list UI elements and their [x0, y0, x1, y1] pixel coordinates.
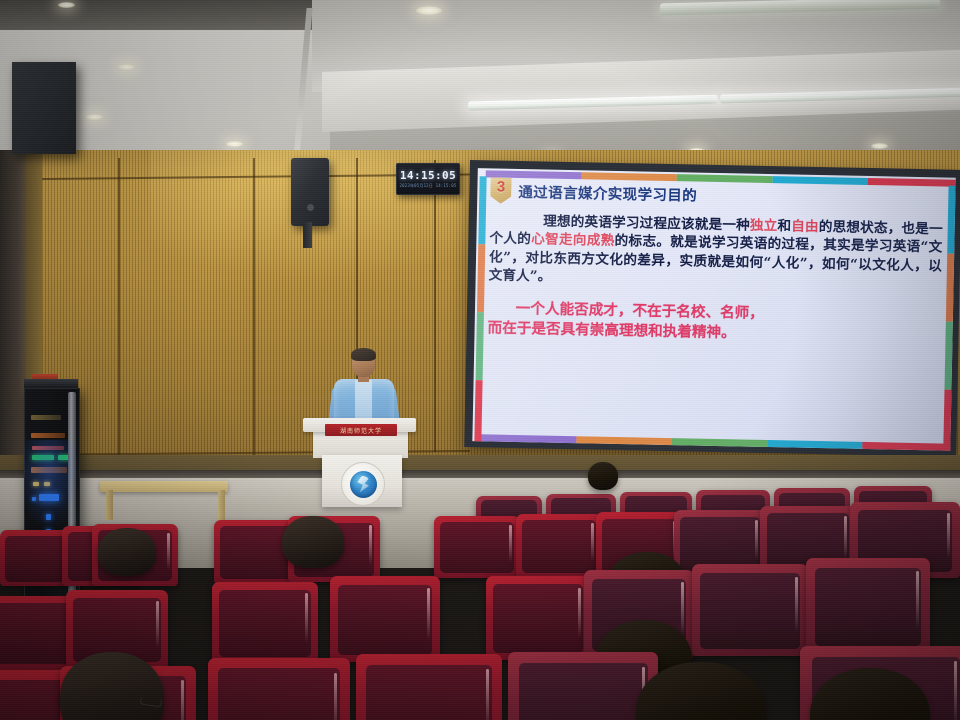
lecture-hall-photo: 14:15:05 2023年05月12日 14:15:05 [0, 0, 960, 720]
slide-number-badge: 3 [490, 177, 512, 203]
presentation-slide: 3 通过语言媒介实现学习目的 理想的英语学习过程应该就是一种独立和自由的思想状态… [472, 168, 955, 451]
downlight-icon [58, 2, 75, 8]
wall-speaker [291, 158, 329, 226]
projection-screen: 3 通过语言媒介实现学习目的 理想的英语学习过程应该就是一种独立和自由的思想状态… [464, 160, 960, 457]
presenter-shirt [355, 380, 372, 422]
downlight-icon [416, 6, 442, 15]
wall-seam [118, 158, 120, 468]
seat [356, 654, 502, 720]
slide-border-left [474, 176, 486, 448]
seat [208, 658, 350, 720]
presenter-hair [351, 348, 376, 361]
slide-number: 3 [497, 178, 506, 197]
downlight-icon [871, 143, 888, 149]
audience-head [98, 528, 156, 576]
border-segment [477, 244, 485, 312]
slide-body-highlight: 独立 [750, 218, 778, 235]
seat [434, 516, 520, 578]
slide-body-highlight: 心智走向成熟 [531, 232, 615, 250]
wall-seam [434, 160, 436, 452]
timestamp-display: 14:15:05 2023年05月12日 14:15:05 [396, 163, 460, 195]
wall-seam [253, 158, 255, 458]
border-segment [863, 442, 956, 451]
clock-time: 14:15:05 [400, 170, 456, 181]
seat [692, 564, 808, 656]
border-segment [478, 176, 486, 244]
seat [516, 514, 602, 578]
border-segment [946, 254, 954, 322]
seat [806, 558, 930, 654]
audience-head [588, 462, 618, 490]
ceiling-speaker [12, 62, 76, 154]
downlight-icon [118, 64, 135, 70]
border-segment [476, 312, 484, 380]
speaker-mount [303, 222, 312, 248]
rack-panel [31, 415, 61, 420]
seat [212, 582, 318, 664]
slide-body-highlight: 自由 [791, 218, 819, 235]
rack-panel [31, 433, 65, 438]
downlight-icon [226, 141, 243, 147]
border-segment [767, 440, 863, 449]
border-segment [474, 380, 482, 448]
audience-head [282, 516, 344, 568]
slide-closing-line2: 而在于是否具有崇高理想和执着精神。 [487, 319, 735, 341]
border-segment [672, 438, 768, 447]
seat [330, 576, 440, 662]
slide-body-text: 理想的英语学习过程应该就是一种 [515, 213, 750, 234]
border-segment [944, 322, 952, 390]
downlight-icon [86, 114, 103, 120]
ceiling [0, 0, 960, 170]
presenter [330, 350, 398, 428]
slide-content: 3 通过语言媒介实现学习目的 理想的英语学习过程应该就是一种独立和自由的思想状态… [486, 177, 944, 442]
slide-title: 通过语言媒介实现学习目的 [518, 180, 697, 205]
slide-border-right [943, 186, 955, 451]
podium-banner-text: 湖南师范大学 [340, 426, 382, 435]
border-segment [480, 434, 576, 443]
seat [486, 576, 590, 660]
border-segment [943, 390, 951, 451]
slide-closing: 一个人能否成才，不在于名校、名师， 而在于是否具有崇高理想和执着精神。 [487, 298, 941, 347]
audience-seating [0, 470, 960, 720]
clock-date: 2023年05月12日 14:15:05 [400, 184, 457, 188]
podium-banner: 湖南师范大学 [325, 424, 397, 436]
slide-body-text: 和 [777, 218, 791, 234]
border-segment [576, 436, 672, 445]
border-segment [947, 186, 955, 254]
slide-body-paragraph: 理想的英语学习过程应该就是一种独立和自由的思想状态，也是一个人的心智走向成熟的标… [488, 211, 942, 294]
